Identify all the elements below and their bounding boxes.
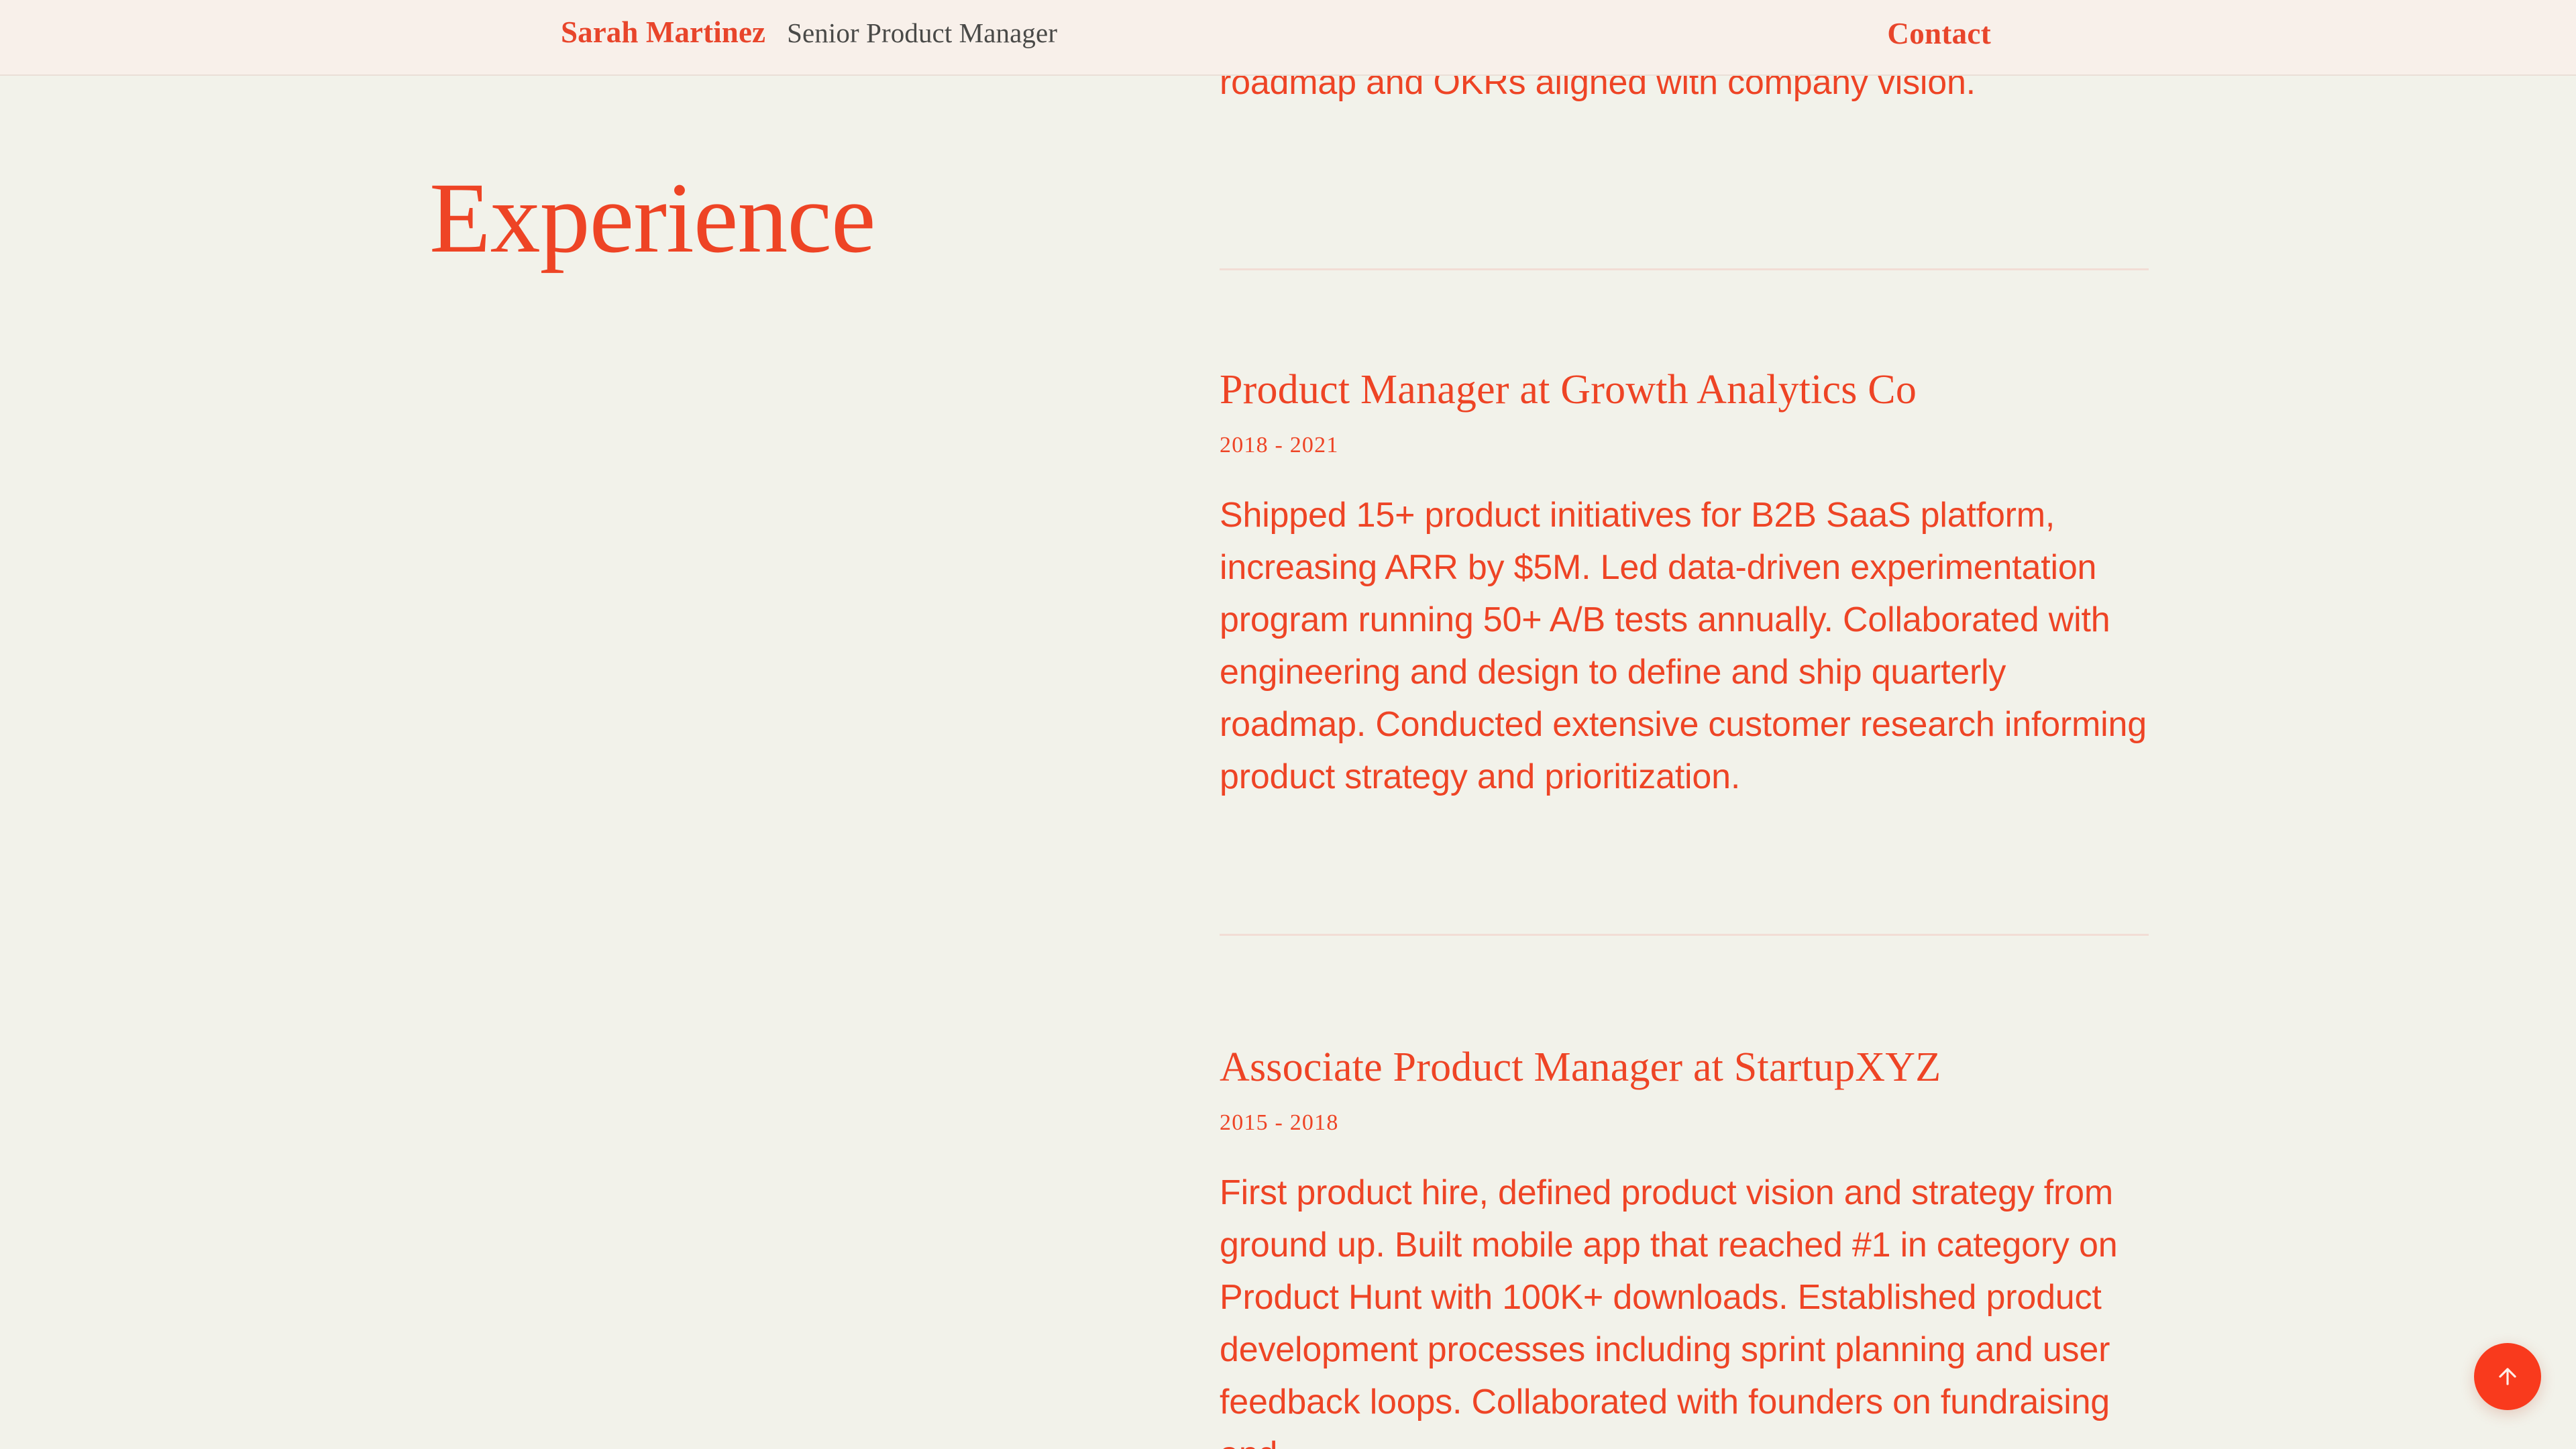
nav-link-contact[interactable]: Contact	[1887, 16, 1991, 51]
scroll-to-top-button[interactable]	[2474, 1343, 2541, 1410]
experience-entry-date: 2015 - 2018	[1220, 1110, 2152, 1136]
page-root: engineers, designers, and analysts. Defi…	[0, 0, 2576, 1449]
experience-entry-title: Product Manager at Growth Analytics Co	[1220, 368, 2152, 413]
experience-entry-date: 2018 - 2021	[1220, 433, 2152, 458]
arrow-up-icon	[2495, 1364, 2520, 1389]
experience-entry-body: Shipped 15+ product initiatives for B2B …	[1220, 489, 2152, 803]
experience-entry-body: First product hire, defined product visi…	[1220, 1167, 2152, 1449]
experience-entry: Associate Product Manager at StartupXYZ …	[1220, 1045, 2152, 1449]
site-header: Sarah Martinez Senior Product Manager Co…	[0, 0, 2576, 76]
brand-name[interactable]: Sarah Martinez	[561, 15, 765, 50]
experience-entry: Product Manager at Growth Analytics Co 2…	[1220, 368, 2152, 803]
entry-divider	[1220, 934, 2149, 936]
entry-divider	[1220, 268, 2149, 270]
brand-block[interactable]: Sarah Martinez Senior Product Manager	[561, 15, 1057, 50]
experience-entry-title: Associate Product Manager at StartupXYZ	[1220, 1045, 2152, 1090]
brand-role: Senior Product Manager	[787, 17, 1057, 49]
page-title: Experience	[429, 168, 875, 268]
